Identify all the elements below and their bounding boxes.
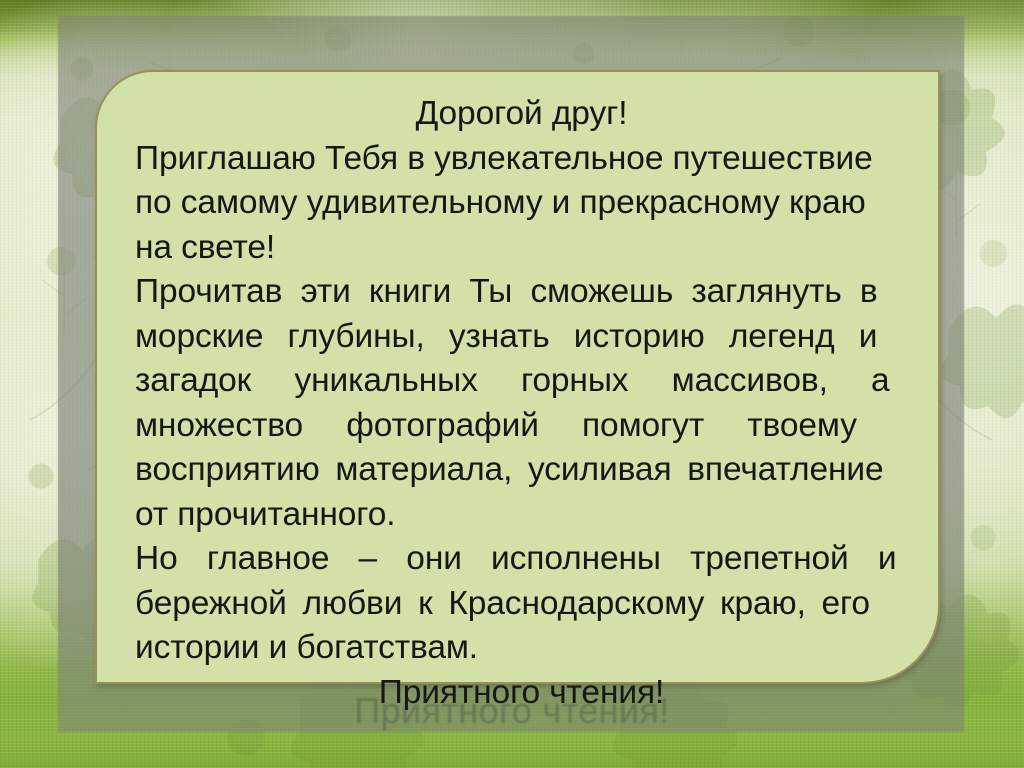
letter-line-5: морские глубины, узнать историю легенд и [135,315,908,360]
letter-line-1: Приглашаю Тебя в увлекательное путешеств… [135,137,908,182]
letter-card: Дорогой друг! Приглашаю Тебя в увлекател… [95,70,940,684]
letter-line-6: загадок уникальных горных массивов, а [135,359,908,404]
letter-body: Дорогой друг! Приглашаю Тебя в увлекател… [135,92,908,668]
letter-line-10: Но главное – они исполнены трепетной и [135,537,908,582]
letter-line-9: от прочитанного. [135,493,908,538]
letter-line-12: истории и богатствам. [135,626,908,671]
letter-closing: Приятного чтения! [135,671,908,716]
letter-line-8: восприятию материала, усиливая впечатлен… [135,448,908,493]
slide: Приятного чтения! Дорогой друг! Приглаша… [0,0,1024,768]
letter-line-4: Прочитав эти книги Ты сможешь заглянуть … [135,270,908,315]
letter-greeting: Дорогой друг! [135,92,908,137]
letter-line-7: множество фотографий помогут твоему [135,404,908,449]
letter-line-3: на свете! [135,226,908,271]
letter-line-2: по самому удивительному и прекрасному кр… [135,181,908,226]
letter-line-11: бережной любви к Краснодарскому краю, ег… [135,582,908,627]
